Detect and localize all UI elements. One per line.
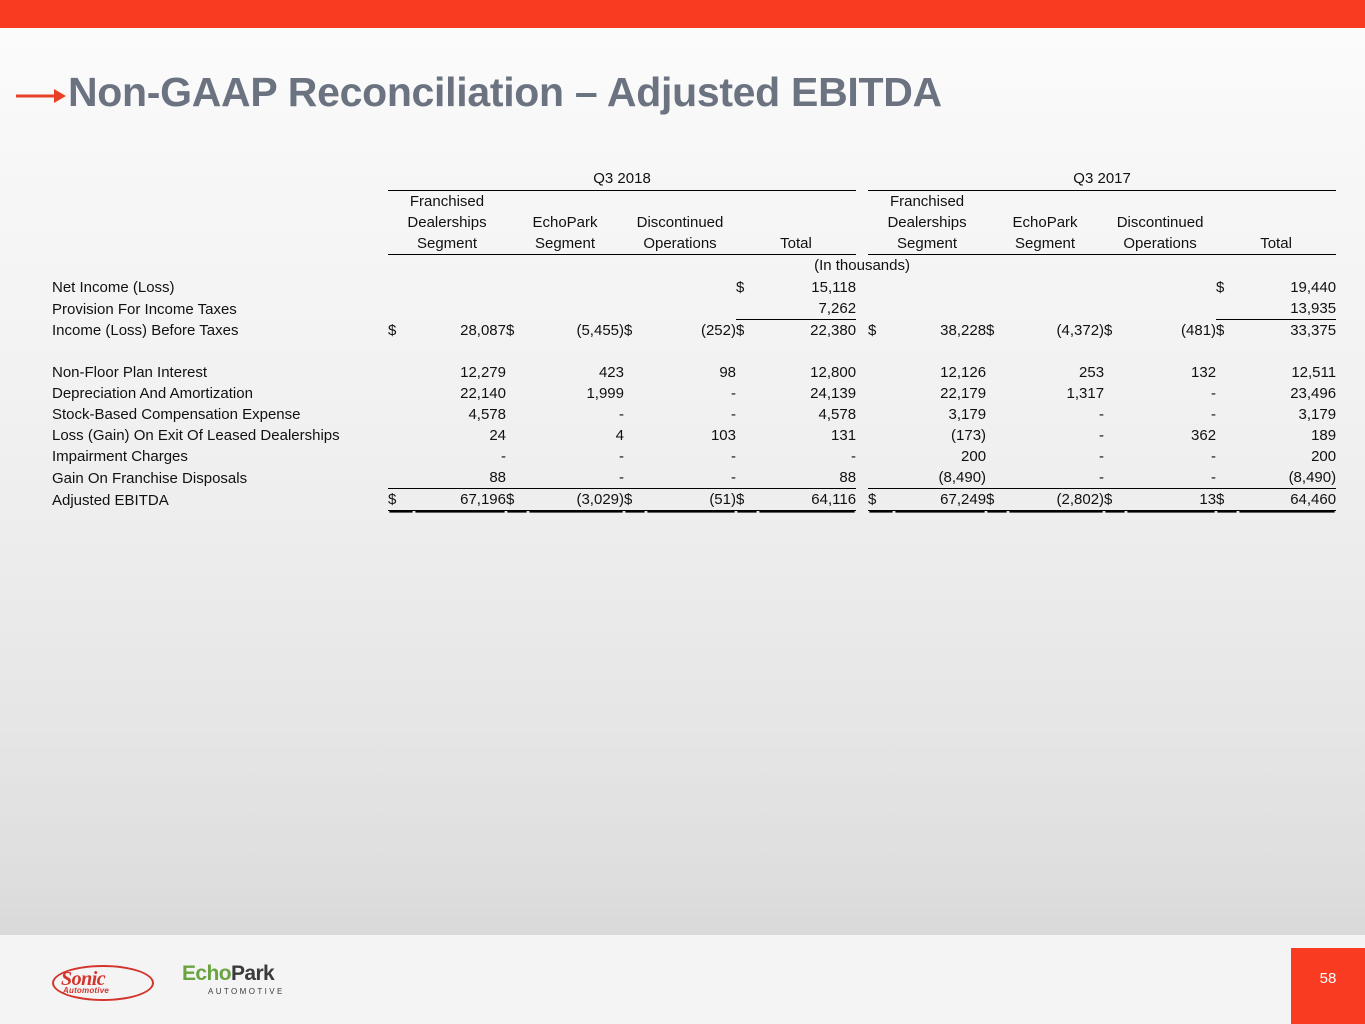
cell-2017-discontinued: 132 [1126,362,1216,383]
cell-2017-echopark-sym [986,277,1008,298]
hdr-2017-franchised-l3: Segment [868,233,986,255]
cell-2018-discontinued: 98 [646,362,736,383]
cell-2017-total: 12,511 [1238,362,1336,383]
cell-2018-total-sym [736,383,758,404]
cell-2018-total-sym: $ [736,320,758,342]
cell-2018-echopark-sym [506,298,528,320]
hdr-2017-echopark-l3: Segment [986,233,1104,255]
cell-2017-franchised: 200 [894,446,986,467]
cell-2017-echopark: (4,372) [1008,320,1104,342]
cell-2018-total: 15,118 [758,277,856,298]
spacer-cell [52,168,382,191]
cell-2018-total: 4,578 [758,404,856,425]
cell-2018-total: 22,380 [758,320,856,342]
cell-2017-echopark-sym [986,298,1008,320]
spacer-cell [856,467,868,489]
cell-2017-echopark: 253 [1008,362,1104,383]
cell-2017-echopark: - [1008,467,1104,489]
row-label: Loss (Gain) On Exit Of Leased Dealership… [52,425,382,446]
cell-2017-echopark [1008,277,1104,298]
cell-2017-discontinued: - [1126,446,1216,467]
cell-2018-discontinued-sym [624,383,646,404]
cell-2018-echopark-sym: $ [506,489,528,511]
cell-2017-total: 33,375 [1238,320,1336,342]
spacer-cell [856,233,868,255]
cell-2018-total-sym [736,446,758,467]
cell-2018-discontinued: (252) [646,320,736,342]
hdr-2017-echopark-l2: EchoPark [986,212,1104,233]
table-row: Non-Floor Plan Interest 12,279 423 98 12… [52,362,1336,383]
cell-2017-total-sym: $ [1216,277,1238,298]
spacer-cell [52,191,382,213]
cell-2018-franchised: 67,196 [414,489,506,511]
cell-2018-discontinued: (51) [646,489,736,511]
cell-2018-echopark [528,277,624,298]
spacer-cell [52,233,382,255]
cell-2017-franchised-sym: $ [868,489,894,511]
spacer-row [52,341,1336,362]
cell-2018-discontinued: 103 [646,425,736,446]
cell-2018-total-sym [736,425,758,446]
row-label: Depreciation And Amortization [52,383,382,404]
cell-2018-discontinued-sym [624,446,646,467]
cell-2018-discontinued [646,298,736,320]
cell-2017-discontinued-sym [1104,425,1126,446]
cell-2018-echopark-sym [506,362,528,383]
spacer-cell [52,341,1336,362]
spacer-cell [856,320,868,342]
cell-2017-echopark-sym [986,362,1008,383]
group-title-q3-2018: Q3 2018 [388,168,856,191]
hdr-2018-franchised-l3: Segment [388,233,506,255]
cell-2017-total-sym [1216,467,1238,489]
cell-2017-total: 19,440 [1238,277,1336,298]
cell-2017-total-sym [1216,404,1238,425]
spacer-cell [856,425,868,446]
cell-2018-franchised-sym [388,362,414,383]
cell-2018-total-sym [736,404,758,425]
table-row: Loss (Gain) On Exit Of Leased Dealership… [52,425,1336,446]
cell-2017-franchised [894,298,986,320]
units-note-row: (In thousands) [52,255,1336,278]
hdr-2018-franchised-l2: Dealerships [388,212,506,233]
cell-2018-franchised-sym [388,404,414,425]
cell-2017-franchised: 22,179 [894,383,986,404]
cell-2017-echopark: - [1008,425,1104,446]
column-header-line1: Franchised Franchised [52,191,1336,213]
top-accent-bar [0,0,1365,28]
cell-2017-discontinued-sym [1104,298,1126,320]
cell-2017-franchised-sym [868,383,894,404]
cell-2017-franchised: (8,490) [894,467,986,489]
cell-2017-echopark-sym [986,425,1008,446]
spacer-cell [856,446,868,467]
page-number: 58 [1291,970,1365,987]
cell-2018-discontinued-sym [624,425,646,446]
cell-2018-echopark: - [528,467,624,489]
cell-2017-discontinued [1126,277,1216,298]
hdr-2017-franchised-l2: Dealerships [868,212,986,233]
row-label: Non-Floor Plan Interest [52,362,382,383]
table-row: Depreciation And Amortization 22,140 1,9… [52,383,1336,404]
cell-2017-total: 13,935 [1238,298,1336,320]
spacer-cell [856,362,868,383]
cell-2017-total: 3,179 [1238,404,1336,425]
hdr-2017-discontinued-l3: Operations [1104,233,1216,255]
cell-2018-echopark-sym [506,467,528,489]
table-row: Income (Loss) Before Taxes $ 28,087 $ (5… [52,320,1336,342]
cell-2017-echopark: - [1008,446,1104,467]
group-title-q3-2017: Q3 2017 [868,168,1336,191]
cell-2017-franchised-sym [868,446,894,467]
hdr-2018-discontinued-l3: Operations [624,233,736,255]
hdr-2018-total-l1 [736,191,856,213]
cell-2017-franchised: 67,249 [894,489,986,511]
cell-2018-total: 64,116 [758,489,856,511]
reconciliation-table: Q3 2018 Q3 2017 Franchised Franchised [52,168,1336,511]
cell-2018-discontinued: - [646,467,736,489]
cell-2017-total: 200 [1238,446,1336,467]
cell-2017-franchised: 3,179 [894,404,986,425]
cell-2018-discontinued-sym: $ [624,320,646,342]
hdr-2017-total-l2 [1216,212,1336,233]
cell-2017-echopark: (2,802) [1008,489,1104,511]
column-header-line3: Segment Segment Operations Total Segment… [52,233,1336,255]
cell-2017-echopark-sym: $ [986,489,1008,511]
cell-2017-echopark [1008,298,1104,320]
row-label: Income (Loss) Before Taxes [52,320,382,342]
cell-2018-total: 131 [758,425,856,446]
table-row: Stock-Based Compensation Expense 4,578 -… [52,404,1336,425]
cell-2018-echopark: 423 [528,362,624,383]
cell-2017-discontinued-sym [1104,277,1126,298]
group-title-row: Q3 2018 Q3 2017 [52,168,1336,191]
cell-2017-discontinued: - [1126,404,1216,425]
cell-2018-total-sym [736,362,758,383]
cell-2017-total-sym [1216,362,1238,383]
cell-2018-franchised: 28,087 [414,320,506,342]
cell-2017-franchised-sym [868,362,894,383]
cell-2018-total-sym [736,298,758,320]
cell-2018-franchised-sym [388,446,414,467]
cell-2018-franchised: 22,140 [414,383,506,404]
cell-2018-total-sym [736,467,758,489]
table-row: Impairment Charges - - - - 200 - - 200 [52,446,1336,467]
hdr-2017-total-l1 [1216,191,1336,213]
cell-2018-echopark-sym [506,404,528,425]
cell-2017-franchised: 12,126 [894,362,986,383]
echopark-logo-part2: Park [231,962,274,985]
column-header-line2: Dealerships EchoPark Discontinued Dealer… [52,212,1336,233]
spacer-cell [856,383,868,404]
cell-2017-franchised: (173) [894,425,986,446]
hdr-2018-discontinued-l1 [624,191,736,213]
spacer-cell [856,489,868,511]
cell-2018-franchised-sym [388,425,414,446]
cell-2017-franchised-sym [868,425,894,446]
cell-2018-discontinued-sym [624,277,646,298]
cell-2017-echopark-sym [986,467,1008,489]
hdr-2018-echopark-l2: EchoPark [506,212,624,233]
cell-2017-echopark-sym [986,446,1008,467]
cell-2018-echopark: - [528,404,624,425]
hdr-2017-echopark-l1 [986,191,1104,213]
echopark-logo-wordmark: EchoPark [182,962,274,986]
hdr-2018-franchised-l1: Franchised [388,191,506,213]
cell-2017-echopark-sym: $ [986,320,1008,342]
cell-2018-total-sym: $ [736,277,758,298]
spacer-cell [52,255,382,278]
table-row: Gain On Franchise Disposals 88 - - 88 (8… [52,467,1336,489]
cell-2018-franchised-sym: $ [388,489,414,511]
cell-2018-echopark: - [528,446,624,467]
cell-2018-franchised-sym [388,467,414,489]
cell-2017-franchised-sym: $ [868,320,894,342]
cell-2018-echopark [528,298,624,320]
hdr-2018-total-l3: Total [736,233,856,255]
cell-2018-echopark-sym [506,425,528,446]
cell-2018-franchised-sym: $ [388,320,414,342]
cell-2018-echopark: (3,029) [528,489,624,511]
cell-2017-discontinued-sym [1104,404,1126,425]
cell-2018-discontinued: - [646,383,736,404]
cell-2017-franchised-sym [868,298,894,320]
spacer-cell [856,298,868,320]
hdr-2017-discontinued-l1 [1104,191,1216,213]
row-label: Provision For Income Taxes [52,298,382,320]
table-row: Provision For Income Taxes 7,262 13,935 [52,298,1336,320]
cell-2018-discontinued: - [646,404,736,425]
spacer-cell [856,404,868,425]
row-label: Stock-Based Compensation Expense [52,404,382,425]
cell-2018-echopark-sym: $ [506,320,528,342]
table-row: Net Income (Loss) $ 15,118 $ 19,440 [52,277,1336,298]
cell-2018-discontinued [646,277,736,298]
cell-2018-franchised: 4,578 [414,404,506,425]
hdr-2018-discontinued-l2: Discontinued [624,212,736,233]
cell-2018-discontinued: - [646,446,736,467]
echopark-logo-part1: Echo [182,962,231,985]
cell-2018-discontinued-sym [624,298,646,320]
hdr-2017-total-l3: Total [1216,233,1336,255]
cell-2017-discontinued-sym: $ [1104,320,1126,342]
financial-table-wrap: Q3 2018 Q3 2017 Franchised Franchised [0,168,1365,511]
cell-2018-franchised-sym [388,277,414,298]
cell-2017-discontinued-sym [1104,362,1126,383]
page-title: Non-GAAP Reconciliation – Adjusted EBITD… [68,66,942,118]
echopark-automotive-logo: EchoPark AUTOMOTIVE [182,960,300,1002]
echopark-logo-sub: AUTOMOTIVE [208,987,285,996]
cell-2018-franchised: 12,279 [414,362,506,383]
spacer-cell [856,277,868,298]
cell-2018-total: 88 [758,467,856,489]
cell-2017-total-sym: $ [1216,320,1238,342]
cell-2018-total-sym: $ [736,489,758,511]
cell-2017-franchised-sym [868,404,894,425]
units-note: (In thousands) [388,255,1336,278]
cell-2017-total-sym [1216,425,1238,446]
row-label: Net Income (Loss) [52,277,382,298]
hdr-2017-franchised-l1: Franchised [868,191,986,213]
cell-2017-echopark-sym [986,383,1008,404]
cell-2017-franchised [894,277,986,298]
cell-2017-discontinued [1126,298,1216,320]
cell-2018-echopark: 4 [528,425,624,446]
cell-2017-discontinued: - [1126,467,1216,489]
cell-2017-discontinued: - [1126,383,1216,404]
cell-2018-discontinued-sym [624,362,646,383]
cell-2018-discontinued-sym [624,404,646,425]
cell-2018-total: 24,139 [758,383,856,404]
hdr-2018-total-l2 [736,212,856,233]
cell-2017-discontinued: (481) [1126,320,1216,342]
cell-2017-total-sym [1216,298,1238,320]
sonic-automotive-logo: Sonic Automotive [52,960,152,1002]
cell-2017-total-sym [1216,383,1238,404]
cell-2017-discontinued: 13 [1126,489,1216,511]
hdr-2018-echopark-l1 [506,191,624,213]
cell-2017-echopark-sym [986,404,1008,425]
row-label: Adjusted EBITDA [52,489,382,511]
cell-2017-discontinued-sym [1104,446,1126,467]
cell-2018-echopark-sym [506,277,528,298]
cell-2018-discontinued-sym [624,467,646,489]
cell-2017-total-sym [1216,446,1238,467]
title-row: Non-GAAP Reconciliation – Adjusted EBITD… [0,66,1365,124]
spacer-cell [856,191,868,213]
cell-2017-total: 64,460 [1238,489,1336,511]
slide: Non-GAAP Reconciliation – Adjusted EBITD… [0,0,1365,1024]
cell-2018-discontinued-sym: $ [624,489,646,511]
cell-2017-franchised: 38,228 [894,320,986,342]
cell-2017-echopark: - [1008,404,1104,425]
cell-2017-discontinued-sym: $ [1104,489,1126,511]
footer-logos: Sonic Automotive EchoPark AUTOMOTIVE [52,958,300,1004]
row-label: Impairment Charges [52,446,382,467]
cell-2017-franchised-sym [868,277,894,298]
cell-2018-franchised-sym [388,298,414,320]
table-row-total: Adjusted EBITDA $ 67,196 $ (3,029) $ (51… [52,489,1336,511]
cell-2017-total-sym: $ [1216,489,1238,511]
cell-2017-total: 23,496 [1238,383,1336,404]
cell-2018-echopark: (5,455) [528,320,624,342]
cell-2018-total: - [758,446,856,467]
cell-2018-franchised [414,277,506,298]
cell-2017-total: (8,490) [1238,467,1336,489]
cell-2017-discontinued-sym [1104,467,1126,489]
row-label: Gain On Franchise Disposals [52,467,382,489]
cell-2017-franchised-sym [868,467,894,489]
sonic-logo-sub: Automotive [63,986,109,995]
cell-2018-franchised: 88 [414,467,506,489]
cell-2017-discontinued: 362 [1126,425,1216,446]
cell-2018-franchised [414,298,506,320]
cell-2018-echopark-sym [506,446,528,467]
hdr-2017-discontinued-l2: Discontinued [1104,212,1216,233]
cell-2017-total: 189 [1238,425,1336,446]
cell-2018-echopark: 1,999 [528,383,624,404]
cell-2018-franchised-sym [388,383,414,404]
cell-2017-echopark: 1,317 [1008,383,1104,404]
spacer-cell [52,212,382,233]
cell-2018-echopark-sym [506,383,528,404]
spacer-cell [856,212,868,233]
right-arrow-icon [16,86,66,106]
cell-2018-total: 7,262 [758,298,856,320]
cell-2018-total: 12,800 [758,362,856,383]
cell-2018-franchised: 24 [414,425,506,446]
hdr-2018-echopark-l3: Segment [506,233,624,255]
cell-2018-franchised: - [414,446,506,467]
cell-2017-discontinued-sym [1104,383,1126,404]
page-number-badge: 58 [1291,948,1365,1024]
spacer-cell [856,168,868,191]
